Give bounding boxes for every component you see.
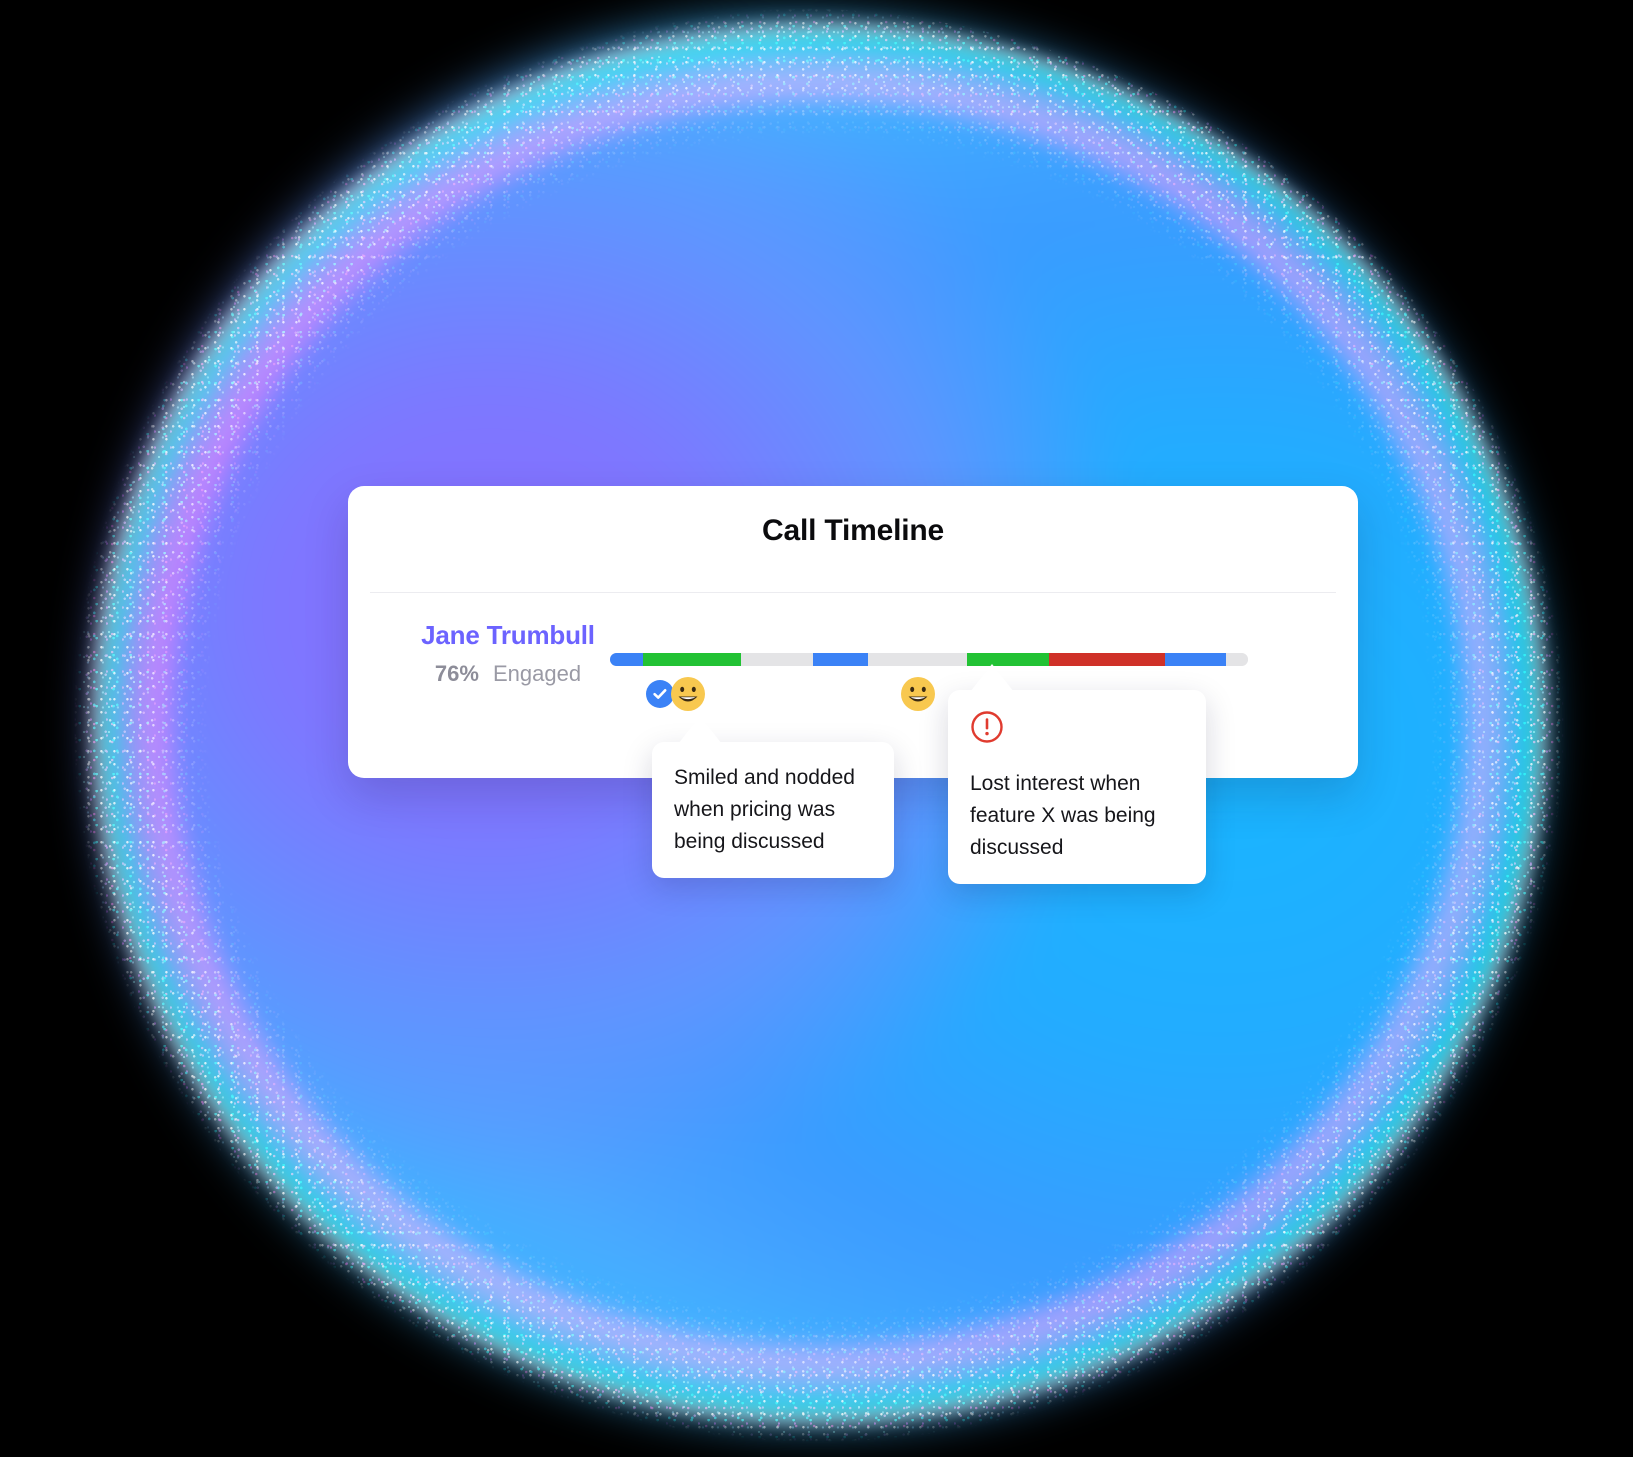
grinning-face-icon — [670, 676, 706, 712]
tooltip-smiled-nodded[interactable]: Smiled and nodded when pricing was being… — [652, 742, 894, 878]
timeline-segment-neutral — [1226, 653, 1248, 666]
timeline-marker-positive[interactable] — [900, 676, 936, 712]
participant-engagement: 76%Engaged — [388, 661, 628, 687]
timeline-marker-pricing[interactable] — [646, 676, 706, 712]
participant-name[interactable]: Jane Trumbull — [388, 620, 628, 651]
timeline-segment-talking — [610, 653, 643, 666]
card-divider — [370, 592, 1336, 593]
participant-block: Jane Trumbull 76%Engaged — [388, 620, 628, 687]
screenshot-root: Call Timeline Jane Trumbull 76%Engaged — [0, 0, 1633, 1457]
timeline-segment-engaged — [643, 653, 741, 666]
engagement-timeline-bar[interactable] — [610, 653, 1248, 666]
engagement-status: Engaged — [493, 661, 581, 686]
timeline-segment-neutral — [741, 653, 812, 666]
alert-circle-icon — [970, 710, 1184, 754]
tooltip-arrow — [970, 664, 1014, 692]
timeline-segment-neutral — [868, 653, 968, 666]
engagement-percent: 76% — [435, 661, 479, 686]
timeline-segment-talking — [813, 653, 868, 666]
tooltip-text: Smiled and nodded when pricing was being… — [674, 762, 872, 858]
tooltip-text: Lost interest when feature X was being d… — [970, 768, 1184, 864]
timeline-segment-talking — [1165, 653, 1226, 666]
timeline-segment-disengaged — [1049, 653, 1165, 666]
grinning-face-icon — [900, 676, 936, 712]
tooltip-arrow — [678, 716, 722, 744]
call-timeline-card: Call Timeline Jane Trumbull 76%Engaged — [348, 486, 1358, 778]
tooltip-lost-interest[interactable]: Lost interest when feature X was being d… — [948, 690, 1206, 884]
page-title: Call Timeline — [348, 514, 1358, 548]
